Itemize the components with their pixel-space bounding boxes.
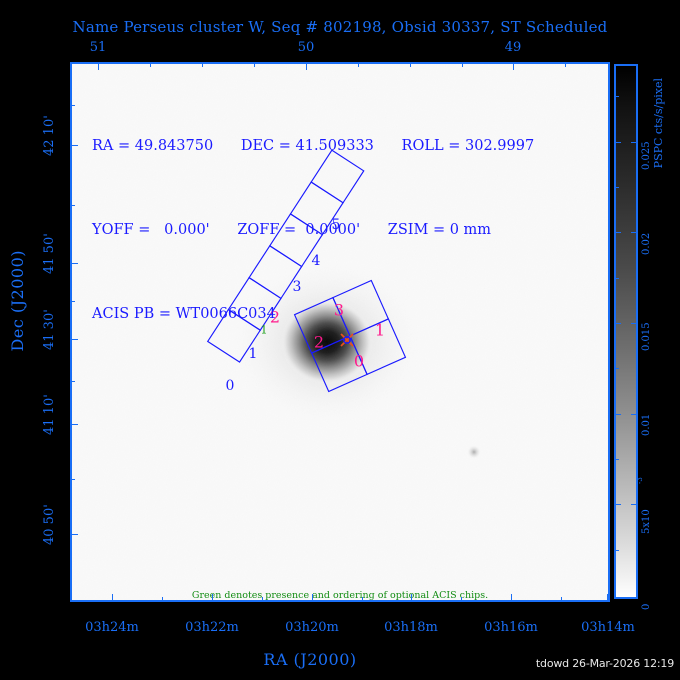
colorbar-tick-minor <box>614 550 619 551</box>
page-title: Name Perseus cluster W, Seq # 802198, Ob… <box>0 18 680 36</box>
tick-top-minor <box>410 62 411 67</box>
colorbar-label-0015: 0.015 <box>641 299 652 351</box>
colorbar-label-0005: 5x10 <box>641 478 652 534</box>
colorbar-label-0025: 0.025 <box>641 118 652 170</box>
param-line-offsets: YOFF = 0.000' ZOFF = 0.0000' ZSIM = 0 mm <box>92 216 534 244</box>
tick-bottom-major <box>411 594 412 602</box>
tick-top-minor <box>565 62 566 67</box>
tick-label-bottom-0: 03h24m <box>62 620 162 635</box>
tick-label-bottom-3: 03h18m <box>361 620 461 635</box>
tick-left-minor <box>70 381 75 382</box>
colorbar-tick <box>614 414 621 415</box>
tick-top-major <box>98 62 99 70</box>
green-legend-note: Green denotes presence and ordering of o… <box>70 590 610 601</box>
colorbar-tick <box>614 232 621 233</box>
y-axis-title: Dec (J2000) <box>8 250 27 351</box>
tick-bottom-minor <box>561 597 562 602</box>
tick-bottom-minor <box>162 597 163 602</box>
tick-top-minor <box>202 62 203 67</box>
tick-left-minor <box>70 301 75 302</box>
tick-left-minor <box>70 479 75 480</box>
colorbar-tick-minor <box>614 368 619 369</box>
tick-left-major <box>70 263 78 264</box>
param-line-ra-dec-roll: RA = 49.843750 DEC = 41.509333 ROLL = 30… <box>92 132 534 160</box>
colorbar-tick-minor <box>614 278 619 279</box>
colorbar <box>614 64 638 599</box>
tick-label-left-2: 41 30' <box>42 309 57 371</box>
tick-label-top-2: 49 <box>483 40 543 55</box>
tick-bottom-minor <box>461 597 462 602</box>
tick-label-bottom-4: 03h16m <box>461 620 561 635</box>
tick-bottom-minor <box>262 597 263 602</box>
colorbar-label-002: 0.02 <box>641 213 652 255</box>
colorbar-tick <box>631 414 638 415</box>
tick-label-bottom-2: 03h20m <box>262 620 362 635</box>
observation-parameters: RA = 49.843750 DEC = 41.509333 ROLL = 30… <box>92 76 534 356</box>
colorbar-title: PSPC cts/s/pixel <box>652 78 665 168</box>
tick-top-major <box>513 62 514 70</box>
tick-top-minor <box>462 62 463 67</box>
colorbar-tick-minor <box>614 459 619 460</box>
colorbar-tick-minor <box>614 187 619 188</box>
colorbar-label-0: 0 <box>641 592 652 610</box>
tick-label-left-3: 41 10' <box>42 394 57 456</box>
colorbar-tick <box>631 323 638 324</box>
colorbar-tick <box>614 504 621 505</box>
tick-bottom-major <box>212 594 213 602</box>
tick-label-top-1: 50 <box>276 40 336 55</box>
colorbar-label-exponent: -3 <box>636 470 644 484</box>
tick-left-major <box>70 339 78 340</box>
colorbar-tick-minor <box>614 96 619 97</box>
tick-top-minor <box>254 62 255 67</box>
colorbar-tick <box>614 142 621 143</box>
tick-left-minor <box>70 105 75 106</box>
tick-bottom-major <box>511 594 512 602</box>
tick-left-major <box>70 534 78 535</box>
tick-left-major <box>70 424 78 425</box>
tick-left-major <box>70 145 78 146</box>
tick-label-left-1: 41 50' <box>42 233 57 295</box>
tick-top-minor <box>358 62 359 67</box>
tick-bottom-minor <box>362 597 363 602</box>
render-stamp: tdowd 26-Mar-2026 12:19 <box>440 657 674 670</box>
tick-label-left-4: 40 50' <box>42 504 57 566</box>
colorbar-tick <box>631 232 638 233</box>
colorbar-tick <box>614 323 621 324</box>
tick-label-bottom-1: 03h22m <box>162 620 262 635</box>
colorbar-label-001: 0.01 <box>641 394 652 436</box>
tick-label-top-0: 51 <box>68 40 128 55</box>
colorbar-tick <box>631 142 638 143</box>
tick-top-minor <box>150 62 151 67</box>
tick-left-minor <box>70 205 75 206</box>
tick-label-left-0: 42 10' <box>42 115 57 177</box>
tick-top-major <box>306 62 307 70</box>
colorbar-tick <box>631 504 638 505</box>
tick-bottom-major <box>312 594 313 602</box>
tick-bottom-major <box>607 594 608 602</box>
tick-bottom-major <box>112 594 113 602</box>
tick-label-bottom-5: 03h14m <box>558 620 658 635</box>
param-line-acis-pb: ACIS PB = WT0066C034 <box>92 300 534 328</box>
